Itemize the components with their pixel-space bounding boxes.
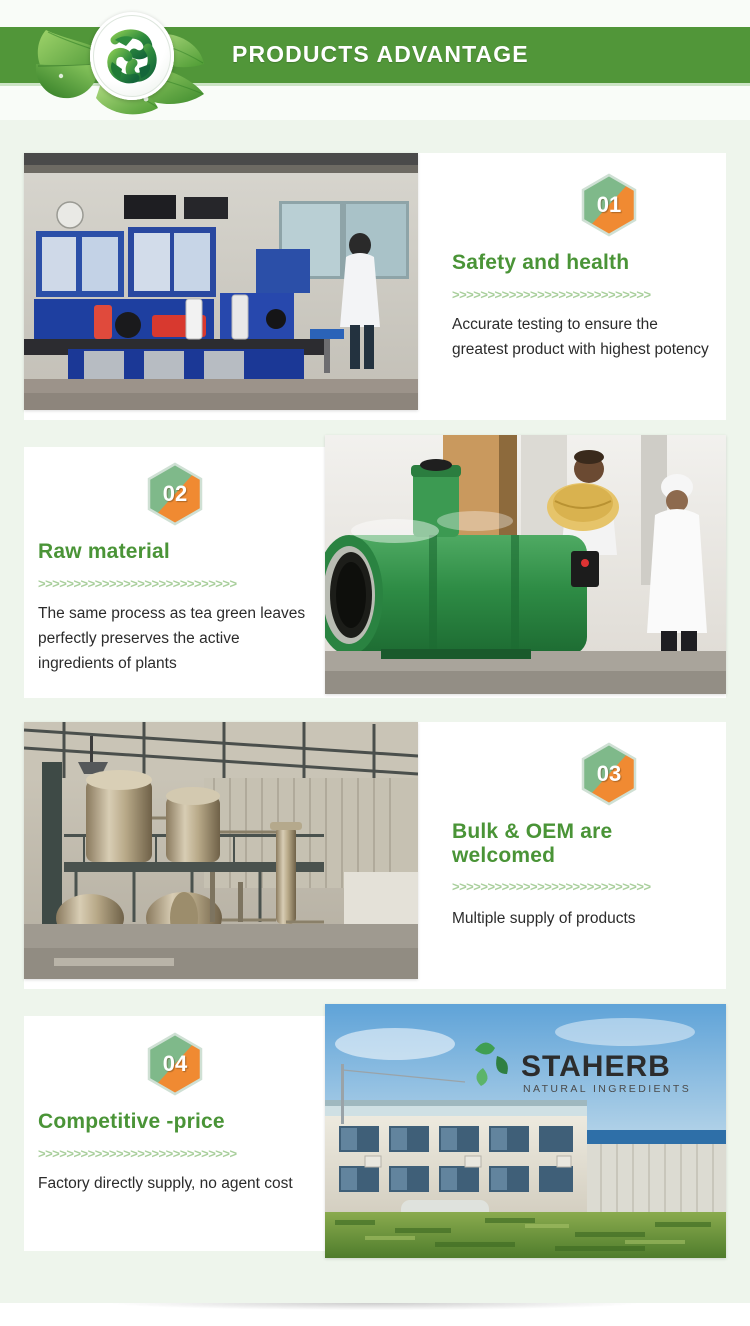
svg-text:STAHERB: STAHERB [521, 1050, 671, 1083]
advantage-badge-01: 01 [580, 173, 638, 237]
advantage-body-01: Accurate testing to ensure the greatest … [452, 312, 710, 362]
advantage-panel-03: 03 Bulk & OEM are welcomed >>>>>>>>>>>>>… [452, 742, 710, 932]
advantage-photo-01 [24, 153, 418, 410]
page-header: PRODUCTS ADVANTAGE [0, 0, 750, 120]
advantage-body-03: Multiple supply of products [452, 906, 710, 931]
svg-text:NATURAL INGREDIENTS: NATURAL INGREDIENTS [523, 1083, 691, 1095]
advantage-body-04: Factory directly supply, no agent cost [38, 1171, 318, 1196]
advantage-badge-03: 03 [580, 742, 638, 806]
logo-disc [90, 12, 174, 100]
advantage-badge-02: 02 [146, 462, 204, 526]
advantage-heading-03: Bulk & OEM are welcomed [452, 820, 710, 867]
advantage-panel-02: 02 Raw material >>>>>>>>>>>>>>>>>>>>>>>>… [38, 462, 318, 676]
staherb-factory-photo: STAHERB NATURAL INGREDIENTS [325, 1004, 726, 1258]
advantage-body-02: The same process as tea green leaves per… [38, 601, 318, 676]
leaf-swirl-icon [90, 12, 174, 100]
chevron-divider-02: >>>>>>>>>>>>>>>>>>>>>>>>>>>> [38, 576, 318, 591]
advantage-photo-02 [325, 435, 726, 694]
advantage-photo-04: STAHERB NATURAL INGREDIENTS [325, 1004, 726, 1258]
advantage-panel-01: 01 Safety and health >>>>>>>>>>>>>>>>>>>… [452, 173, 710, 362]
advantage-heading-04: Competitive -price [38, 1110, 318, 1134]
advantage-number-01: 01 [580, 173, 638, 237]
laboratory-technician-photo [24, 153, 418, 410]
products-advantage-page: PRODUCTS ADVANTAGE [0, 0, 750, 1326]
advantage-heading-02: Raw material [38, 540, 318, 564]
advantage-number-04: 04 [146, 1032, 204, 1096]
chevron-divider-04: >>>>>>>>>>>>>>>>>>>>>>>>>>>> [38, 1146, 318, 1161]
roasting-machine-photo [325, 435, 726, 694]
page-bottom-shadow [0, 1303, 750, 1326]
advantage-number-03: 03 [580, 742, 638, 806]
advantage-number-02: 02 [146, 462, 204, 526]
advantage-badge-04: 04 [146, 1032, 204, 1096]
chevron-divider-03: >>>>>>>>>>>>>>>>>>>>>>>>>>>> [452, 879, 710, 894]
page-title: PRODUCTS ADVANTAGE [232, 41, 529, 68]
advantage-heading-01: Safety and health [452, 251, 710, 275]
chevron-divider-01: >>>>>>>>>>>>>>>>>>>>>>>>>>>> [452, 287, 710, 302]
extraction-plant-photo [24, 722, 418, 979]
advantage-panel-04: 04 Competitive -price >>>>>>>>>>>>>>>>>>… [38, 1032, 318, 1196]
advantage-photo-03 [24, 722, 418, 979]
staherb-leaf-logo [28, 2, 220, 118]
